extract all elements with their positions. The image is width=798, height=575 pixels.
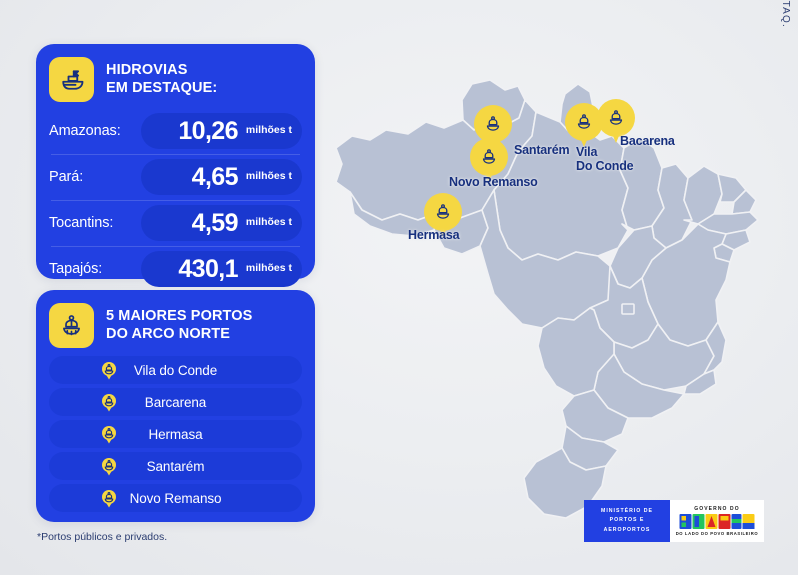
porto-list-item[interactable]: Santarém xyxy=(49,452,302,480)
hidrovia-name: Amazonas: xyxy=(49,123,141,139)
cargo-ship-icon xyxy=(49,57,94,102)
hidrovia-row: Tapajós:430,1milhões t xyxy=(49,246,302,292)
hidrovia-value-pill: 4,59milhões t xyxy=(141,205,302,241)
hidrovia-row: Pará:4,65milhões t xyxy=(49,154,302,200)
footnote: *Portos públicos e privados. xyxy=(37,531,167,543)
porto-list-item-label: Novo Remanso xyxy=(130,491,222,506)
portos-card-header: 5 MAIORES PORTOS DO ARCO NORTE xyxy=(36,290,315,348)
hidrovia-value-pill: 10,26milhões t xyxy=(141,113,302,149)
hidrovia-unit: milhões t xyxy=(246,216,292,230)
ministerio-de-portos-e-aeroportos-logo: MINISTÉRIO DE PORTOS E AEROPORTOS xyxy=(584,500,670,542)
hidrovia-name: Tapajós: xyxy=(49,261,141,277)
map-label-bacarena: Bacarena xyxy=(620,134,675,148)
port-pin-icon xyxy=(101,425,117,444)
port-pin-icon xyxy=(101,361,117,380)
map-label-hermasa: Hermasa xyxy=(408,228,459,242)
map-label-santarem: Santarém xyxy=(514,143,569,157)
governo-logo-bottom-text: DO LADO DO POVO BRASILEIRO xyxy=(676,531,759,536)
hidrovia-value-pill: 430,1milhões t xyxy=(141,251,302,287)
map-label-vila-do-conde: Vila Do Conde xyxy=(576,145,633,173)
portos-card-title: 5 MAIORES PORTOS DO ARCO NORTE xyxy=(106,308,252,343)
logo-bar: MINISTÉRIO DE PORTOS E AEROPORTOS GOVERN… xyxy=(584,500,764,542)
portos-card: 5 MAIORES PORTOS DO ARCO NORTE Vila do C… xyxy=(36,290,315,522)
porto-list-item-label: Vila do Conde xyxy=(134,363,217,378)
portos-list: Vila do Conde Barcarena xyxy=(36,348,315,512)
port-pin-icon xyxy=(101,457,117,476)
hidrovia-name: Tocantins: xyxy=(49,215,141,231)
porto-list-item[interactable]: Vila do Conde xyxy=(49,356,302,384)
source-note: FONTE: ANTAQ. xyxy=(780,0,791,28)
porto-list-item-label: Santarém xyxy=(147,459,205,474)
hidrovia-unit: milhões t xyxy=(246,124,292,138)
hidrovia-value-pill: 4,65milhões t xyxy=(141,159,302,195)
port-pin-icon xyxy=(101,489,117,508)
brasil-wordmark xyxy=(679,513,755,530)
hidrovia-row: Tocantins:4,59milhões t xyxy=(49,200,302,246)
governo-do-brasil-logo: GOVERNO DO DO LADO DO POVO BRASILEIRO xyxy=(670,500,764,542)
hidrovias-rows: Amazonas:10,26milhões tPará:4,65milhões … xyxy=(36,102,315,292)
anchor-ship-icon xyxy=(49,303,94,348)
porto-list-item-label: Hermasa xyxy=(148,427,202,442)
porto-list-item-label: Barcarena xyxy=(145,395,206,410)
hidrovia-name: Pará: xyxy=(49,169,141,185)
hidrovias-card: HIDROVIAS EM DESTAQUE: Amazonas:10,26mil… xyxy=(36,44,315,279)
hidrovia-value: 4,65 xyxy=(192,163,238,192)
infographic-stage: Santarém Vila Do Conde Bacarena Novo Rem… xyxy=(0,0,798,575)
hidrovia-value: 430,1 xyxy=(178,255,238,284)
hidrovias-card-title: HIDROVIAS EM DESTAQUE: xyxy=(106,62,217,97)
hidrovia-unit: milhões t xyxy=(246,262,292,276)
porto-list-item[interactable]: Barcarena xyxy=(49,388,302,416)
hidrovia-value: 4,59 xyxy=(192,209,238,238)
port-pin-icon xyxy=(101,393,117,412)
hidrovia-value: 10,26 xyxy=(178,117,238,146)
ministerio-logo-text: MINISTÉRIO DE PORTOS E AEROPORTOS xyxy=(601,507,653,534)
governo-logo-top-text: GOVERNO DO xyxy=(694,506,739,512)
porto-list-item[interactable]: Hermasa xyxy=(49,420,302,448)
porto-list-item[interactable]: Novo Remanso xyxy=(49,484,302,512)
hidrovia-row: Amazonas:10,26milhões t xyxy=(49,108,302,154)
hidrovias-card-header: HIDROVIAS EM DESTAQUE: xyxy=(36,44,315,102)
map-label-novo-remanso: Novo Remanso xyxy=(449,175,538,189)
hidrovia-unit: milhões t xyxy=(246,170,292,184)
